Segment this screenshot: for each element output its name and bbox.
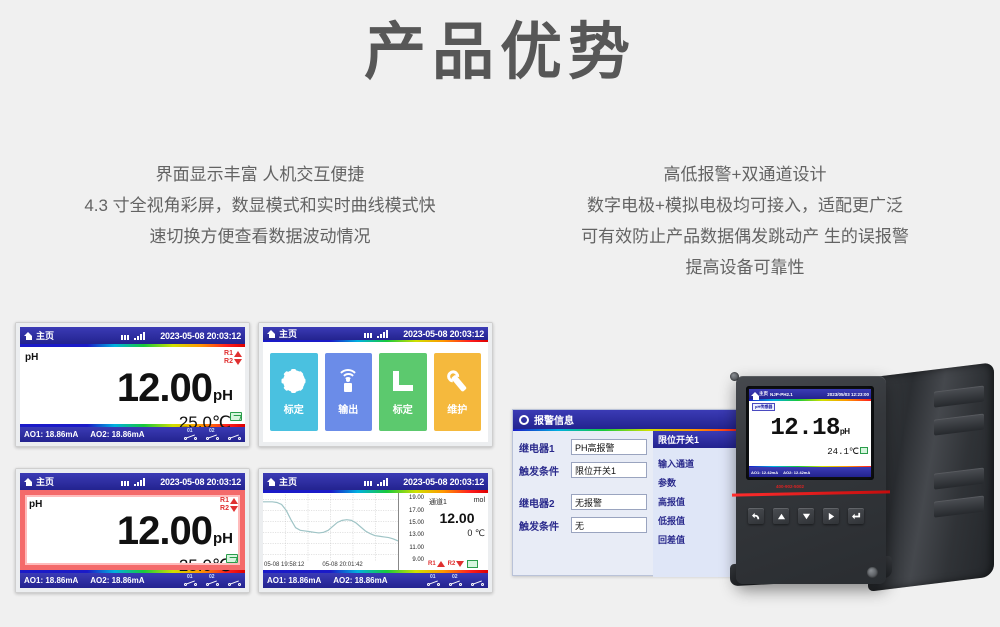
x-tick-1: 05-08 20:01:42 (322, 562, 362, 568)
relay-indicators: R1 R2 (224, 350, 242, 366)
relay-indicators: R1 R2 (220, 497, 238, 513)
trend-x-axis: 05-08 19:58:12 05-08 20:01:42 (263, 559, 398, 570)
device-red-accent-line (732, 490, 890, 496)
device-status-bar: 主页 NJP-PH2.1 2023/05/03 12:23:00 (749, 389, 871, 399)
alarm-field-relay-2: 继电器2 无报警 (519, 494, 647, 510)
triangle-down-icon (234, 359, 242, 365)
status-indicators (121, 332, 145, 340)
menu-tile-label: 标定 (393, 401, 413, 416)
home-icon (267, 329, 276, 338)
ao1-value: AO1: 18.86mA (24, 430, 78, 439)
relay-switch-03-icon (228, 430, 241, 440)
feature-right-line-1: 数字电极+模拟电极均可接入，适配更广泛 (510, 191, 980, 222)
primary-value: 12.00 (117, 369, 212, 407)
battery-icon (121, 335, 129, 340)
relay-2-indicator: R2 (224, 358, 242, 366)
ao1-value: AO1: 18.86mA (24, 576, 78, 585)
y-tick-3: 13.00 (409, 532, 424, 538)
feature-block-right: 高低报警+双通道设计 数字电极+模拟电极均可接入，适配更广泛 可有效防止产品数据… (510, 160, 980, 284)
device-timestamp: 2023/05/03 12:23:00 (827, 392, 869, 397)
triangle-up-icon (234, 351, 242, 357)
status-bar: 主页 2023-05-08 20:03:12 (20, 473, 245, 490)
menu-area: 标定 输出 标定 (263, 342, 488, 442)
relay-2-indicator: R2 (448, 561, 465, 567)
alarm-field-label: 继电器1 (519, 440, 571, 455)
menu-tile-calibration-2[interactable]: 标定 (379, 353, 427, 431)
output-bar: AO1: 18.86mA AO2: 18.86mA 01 02 (263, 573, 488, 588)
triangle-down-icon (456, 561, 464, 567)
enter-key[interactable] (848, 508, 864, 524)
alarm-field-value[interactable]: 限位开关1 (571, 462, 647, 478)
menu-tile-label: 维护 (447, 401, 467, 416)
triangle-up-icon (230, 498, 238, 504)
channel-temperature: 0 ℃ (429, 528, 485, 539)
device-screw-left (730, 372, 739, 381)
alarm-field-trigger-2: 触发条件 无 (519, 517, 647, 533)
menu-tile-calibration-1[interactable]: 标定 (270, 353, 318, 431)
measurement-area: pH R1 R2 12.00 pH 25.0℃ (20, 347, 245, 424)
relay-switch-icons: 01 02 (184, 576, 241, 586)
alarm-field-value[interactable]: 无报警 (571, 494, 647, 510)
relay-indicators: R1 R2 (428, 560, 478, 568)
signal-icon (134, 478, 145, 486)
device-ao1: AO1: 12.42mA (751, 470, 778, 475)
menu-tile-maintenance[interactable]: 维护 (434, 353, 482, 431)
battery-icon (364, 481, 372, 486)
home-label: 主页 (36, 475, 54, 488)
wrench-icon (444, 368, 470, 394)
ao2-value: AO2: 18.86mA (90, 430, 144, 439)
page-title: 产品优势 (0, 14, 1000, 92)
relay-switch-01-icon: 01 (427, 576, 440, 586)
device-primary-reading: 12.18pH (749, 415, 871, 442)
alarm-field-value[interactable]: 无 (571, 517, 647, 533)
y-tick-2: 15.00 (409, 520, 424, 526)
device-screen-menu: 主页 2023-05-08 20:03:12 (258, 322, 493, 447)
parameter-label: pH (29, 499, 42, 510)
product-photo: 主页 NJP-PH2.1 2023/05/03 12:23:00 pH传感器 1… (700, 362, 1000, 608)
relay-1-indicator: R1 (428, 561, 445, 567)
home-label: 主页 (279, 327, 297, 340)
timestamp: 2023-05-08 20:03:12 (160, 477, 241, 487)
alarm-field-relay-1: 继电器1 PH高报警 (519, 439, 647, 455)
y-tick-0: 19.00 (409, 495, 424, 501)
alarm-field-trigger-1: 触发条件 限位开关1 (519, 462, 647, 478)
signal-icon (335, 368, 361, 394)
ao2-value: AO2: 18.86mA (90, 576, 144, 585)
relay-switch-icons: 01 02 (427, 576, 484, 586)
device-screen-digital-alarm: 主页 2023-05-08 20:03:12 pH R1 R2 (15, 468, 250, 593)
signal-icon (377, 478, 388, 486)
device-primary-value: 12.18 (770, 415, 840, 442)
home-button[interactable]: 主页 (267, 327, 297, 340)
signal-icon (134, 332, 145, 340)
back-key[interactable] (748, 508, 764, 524)
menu-tile-output[interactable]: 输出 (325, 353, 373, 431)
device-bezel: 主页 NJP-PH2.1 2023/05/03 12:23:00 pH传感器 1… (746, 386, 874, 480)
status-indicators (364, 330, 388, 338)
device-output-bar: AO1: 12.42mA AO2: 12.42mA (749, 467, 871, 477)
menu-tile-label: 输出 (338, 401, 358, 416)
right-key[interactable] (823, 508, 839, 524)
parameter-label: pH (25, 352, 38, 363)
home-label: 主页 (279, 475, 297, 488)
home-icon (24, 477, 33, 486)
alarm-panel-title: 报警信息 (534, 412, 574, 427)
y-tick-5: 9.00 (412, 557, 424, 563)
ao1-value: AO1: 18.86mA (267, 576, 321, 585)
primary-value: 12.00 (117, 512, 212, 550)
battery-icon (364, 333, 372, 338)
status-ok-icon (226, 554, 238, 563)
alarm-field-label: 继电器2 (519, 495, 571, 510)
device-screen-digital: 主页 2023-05-08 20:03:12 pH R1 R2 (15, 322, 250, 447)
home-icon (24, 331, 33, 340)
status-ok-icon (467, 560, 478, 568)
home-label: 主页 (36, 329, 54, 342)
relay-switch-01-icon: 01 (184, 576, 197, 586)
device-home-label: 主页 (759, 391, 768, 397)
y-tick-1: 17.00 (409, 508, 424, 514)
alarm-field-label: 触发条件 (519, 463, 571, 478)
rainbow-divider (749, 399, 871, 401)
output-bar: AO1: 18.86mA AO2: 18.86mA 01 02 (20, 427, 245, 442)
timestamp: 2023-05-08 20:03:12 (160, 331, 241, 341)
timestamp: 2023-05-08 20:03:12 (403, 329, 484, 339)
feature-left-heading: 界面显示丰富 人机交互便捷 (25, 160, 495, 191)
gear-icon (281, 368, 307, 394)
relay-switch-01-icon: 01 (184, 430, 197, 440)
menu-tile-label: 标定 (284, 401, 304, 416)
axes-icon (390, 368, 416, 394)
channel-unit: mol (474, 497, 485, 507)
device-sensor-tag: pH传感器 (752, 403, 775, 411)
feature-left-line-2: 速切换方便查看数据波动情况 (25, 222, 495, 253)
status-bar: 主页 2023-05-08 20:03:12 (20, 327, 245, 344)
down-key[interactable] (798, 508, 814, 524)
status-bar: 主页 2023-05-08 20:03:12 (263, 327, 488, 340)
battery-icon (121, 481, 129, 486)
primary-unit: pH (213, 387, 233, 404)
relay-switch-02-icon: 02 (449, 576, 462, 586)
channel-label: 通道1 (429, 497, 447, 507)
triangle-up-icon (437, 561, 445, 567)
status-ok-icon (230, 412, 242, 421)
home-icon (751, 391, 757, 397)
up-key[interactable] (773, 508, 789, 524)
trend-area: 05-08 19:58:12 05-08 20:01:42 19.00 17.0… (263, 493, 488, 570)
relay-switch-03-icon (471, 576, 484, 586)
device-screw-right (867, 567, 878, 578)
ao2-value: AO2: 18.86mA (333, 576, 387, 585)
channel-value: 12.00 (429, 510, 485, 526)
output-bar: AO1: 18.86mA AO2: 18.86mA 01 02 (20, 573, 245, 588)
feature-right-line-2: 可有效防止产品数据偶发跳动产 生的误报警 (510, 222, 980, 253)
relay-switch-03-icon (228, 576, 241, 586)
home-button[interactable]: 主页 (267, 475, 297, 488)
alarm-field-value[interactable]: PH高报警 (571, 439, 647, 455)
device-brand-text: 400-902-5002 (776, 484, 804, 489)
device-status-ok-icon (860, 447, 868, 454)
feature-left-line-1: 4.3 寸全视角彩屏，数显模式和实时曲线模式快 (25, 191, 495, 222)
status-indicators (121, 478, 145, 486)
primary-reading: 12.00 pH (117, 512, 233, 550)
device-front-panel: 主页 NJP-PH2.1 2023/05/03 12:23:00 pH传感器 1… (736, 376, 886, 584)
x-tick-0: 05-08 19:58:12 (264, 562, 304, 568)
home-icon (267, 477, 276, 486)
measurement-area: pH R1 R2 12.00 pH 25.0℃ (20, 490, 245, 570)
primary-reading: 12.00 pH (117, 369, 233, 407)
device-model: NJP-PH2.1 (770, 392, 793, 397)
device-temperature: 24.1℃ (827, 447, 859, 457)
feature-block-left: 界面显示丰富 人机交互便捷 4.3 寸全视角彩屏，数显模式和实时曲线模式快 速切… (25, 160, 495, 253)
feature-right-line-3: 提高设备可靠性 (510, 253, 980, 284)
trend-y-axis: 19.00 17.00 15.00 13.00 11.00 9.00 (399, 493, 426, 570)
home-button[interactable]: 主页 (24, 329, 54, 342)
signal-icon (377, 330, 388, 338)
feature-right-heading: 高低报警+双通道设计 (510, 160, 980, 191)
device-screen-trend: 主页 2023-05-08 20:03:12 05-08 19:58:12 05… (258, 468, 493, 593)
status-bar: 主页 2023-05-08 20:03:12 (263, 473, 488, 490)
relay-switch-02-icon: 02 (206, 576, 219, 586)
relay-1-indicator: R1 (220, 497, 238, 505)
primary-unit: pH (213, 530, 233, 547)
relay-switch-02-icon: 02 (206, 430, 219, 440)
gear-icon (519, 415, 529, 425)
device-keypad (748, 508, 864, 524)
trend-legend-panel: 通道1 mol 12.00 0 ℃ R1 R2 (426, 493, 488, 570)
y-tick-4: 11.00 (409, 545, 424, 551)
status-indicators (364, 478, 388, 486)
device-primary-unit: pH (840, 427, 850, 436)
device-ao2: AO2: 12.42mA (783, 470, 810, 475)
relay-1-indicator: R1 (224, 350, 242, 358)
home-button[interactable]: 主页 (24, 475, 54, 488)
device-display: 主页 NJP-PH2.1 2023/05/03 12:23:00 pH传感器 1… (749, 389, 871, 477)
trend-plot: 05-08 19:58:12 05-08 20:01:42 (263, 493, 399, 570)
relay-switch-icons: 01 02 (184, 430, 241, 440)
timestamp: 2023-05-08 20:03:12 (403, 477, 484, 487)
alarm-field-label: 触发条件 (519, 518, 571, 533)
